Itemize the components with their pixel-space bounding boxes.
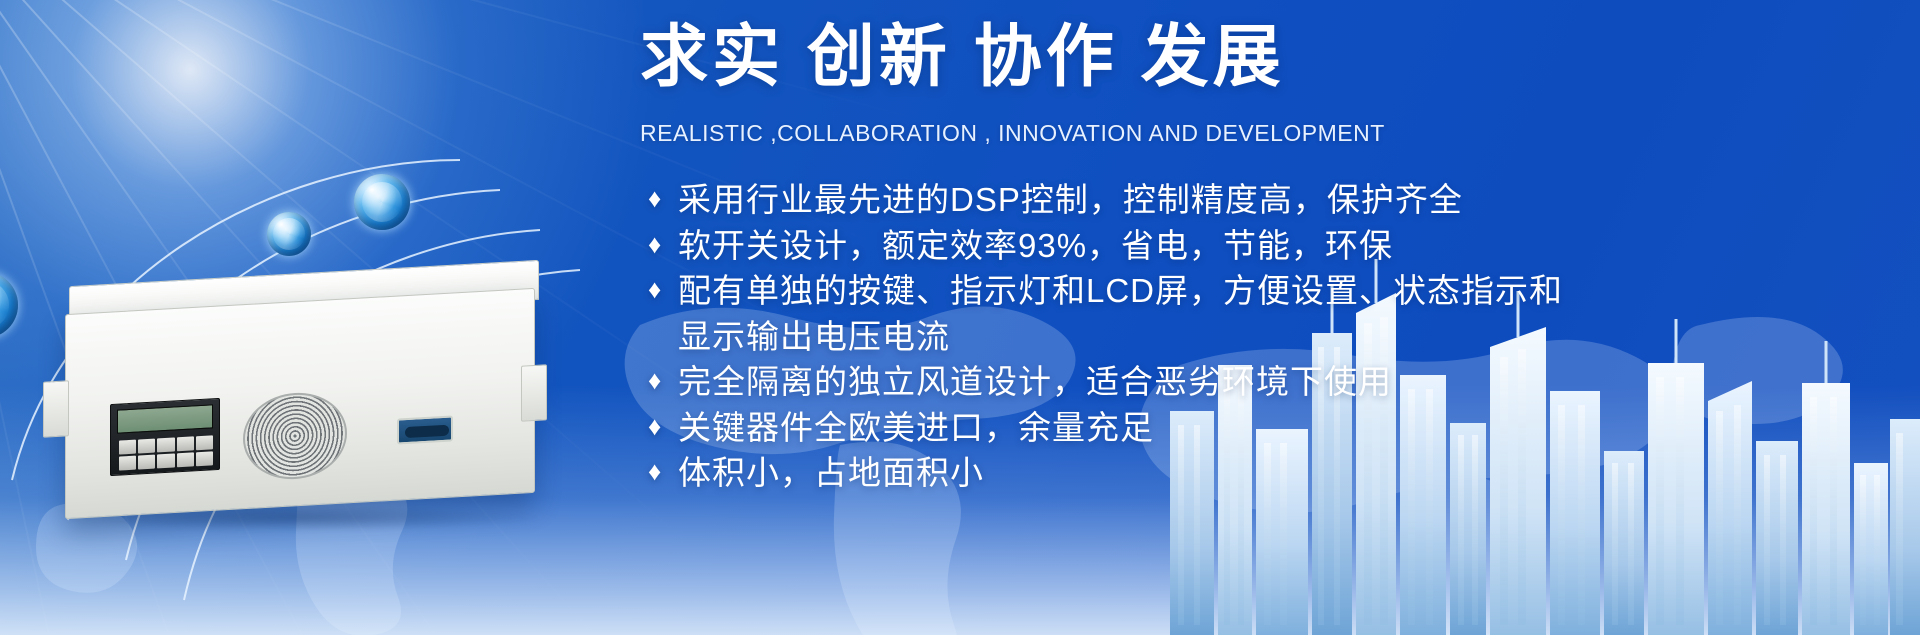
diamond-bullet-icon: ♦ [648,178,678,218]
product-banner: 求实 创新 协作 发展 REALISTIC ,COLLABORATION , I… [0,0,1920,635]
list-item: ♦ 体积小，占地面积小 [648,451,1828,495]
list-item-label: 关键器件全欧美进口，余量充足 [678,406,1154,450]
list-item-label: 完全隔离的独立风道设计，适合恶劣环境下使用 [678,360,1392,404]
diamond-bullet-icon: ♦ [648,224,678,264]
diamond-bullet-icon: ♦ [648,406,678,446]
diamond-bullet-icon: ♦ [648,360,678,400]
feature-list: ♦ 采用行业最先进的DSP控制，控制精度高，保护齐全 ♦ 软开关设计，额定效率9… [648,178,1828,497]
diamond-bullet-icon: ♦ [648,451,678,491]
page-title: 求实 创新 协作 发展 [640,22,1285,93]
list-item-label: 软开关设计，额定效率93%，省电，节能，环保 [678,224,1393,268]
list-item-continuation: 显示输出电压电流 [648,315,1828,359]
diamond-bullet-icon: ♦ [648,269,678,309]
list-item-label: 采用行业最先进的DSP控制，控制精度高，保护齐全 [678,178,1463,222]
banner-content: 求实 创新 协作 发展 REALISTIC ,COLLABORATION , I… [0,0,1920,635]
list-item: ♦ 采用行业最先进的DSP控制，控制精度高，保护齐全 [648,178,1828,222]
list-item-label: 显示输出电压电流 [678,315,950,359]
list-item: ♦ 软开关设计，额定效率93%，省电，节能，环保 [648,224,1828,268]
list-item-label: 配有单独的按键、指示灯和LCD屏，方便设置、状态指示和 [678,269,1563,313]
list-item: ♦ 配有单独的按键、指示灯和LCD屏，方便设置、状态指示和 [648,269,1828,313]
page-subtitle: REALISTIC ,COLLABORATION , INNOVATION AN… [640,120,1385,147]
list-item: ♦ 完全隔离的独立风道设计，适合恶劣环境下使用 [648,360,1828,404]
list-item-label: 体积小，占地面积小 [678,451,984,495]
list-item: ♦ 关键器件全欧美进口，余量充足 [648,406,1828,450]
